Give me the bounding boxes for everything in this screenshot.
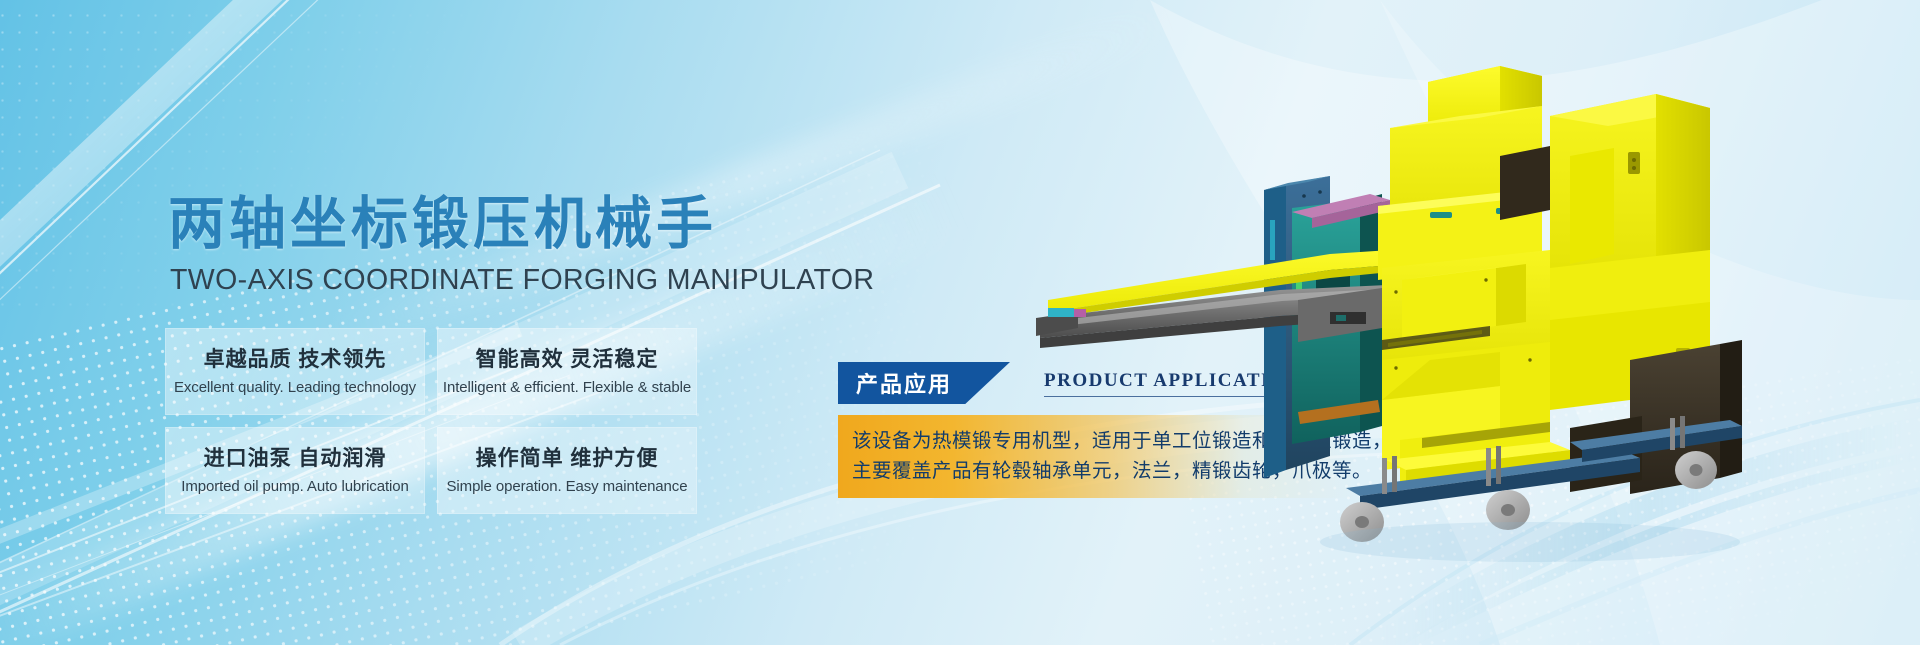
feature-card-oil-pump: 进口油泵 自动润滑 Imported oil pump. Auto lubric… (165, 427, 425, 514)
feature-grid: 卓越品质 技术领先 Excellent quality. Leading tec… (165, 328, 697, 514)
page-title: 两轴坐标锻压机械手 (168, 178, 717, 260)
product-application-tag: 产品应用 (838, 362, 1010, 404)
feature-card-efficiency: 智能高效 灵活稳定 Intelligent & efficient. Flexi… (437, 328, 697, 415)
feature-title-en: Imported oil pump. Auto lubrication (181, 478, 408, 495)
feature-title-cn: 进口油泵 自动润滑 (204, 446, 387, 471)
product-application-tag-label: 产品应用 (856, 367, 952, 399)
feature-card-quality: 卓越品质 技术领先 Excellent quality. Leading tec… (165, 328, 425, 415)
feature-title-cn: 智能高效 灵活稳定 (476, 347, 659, 372)
feature-title-en: Simple operation. Easy maintenance (447, 478, 688, 495)
page-subtitle: TWO-AXIS COORDINATE FORGING MANIPULATOR (170, 264, 874, 297)
feature-title-en: Excellent quality. Leading technology (174, 379, 416, 396)
feature-title-cn: 卓越品质 技术领先 (204, 347, 387, 372)
caster-wheel (1675, 451, 1717, 489)
forging-manipulator-illustration (1030, 60, 1790, 580)
product-banner: 两轴坐标锻压机械手 TWO-AXIS COORDINATE FORGING MA… (0, 0, 1920, 645)
feature-title-en: Intelligent & efficient. Flexible & stab… (443, 379, 691, 396)
feature-title-cn: 操作简单 维护方便 (476, 446, 659, 471)
feature-card-maintenance: 操作简单 维护方便 Simple operation. Easy mainten… (437, 427, 697, 514)
